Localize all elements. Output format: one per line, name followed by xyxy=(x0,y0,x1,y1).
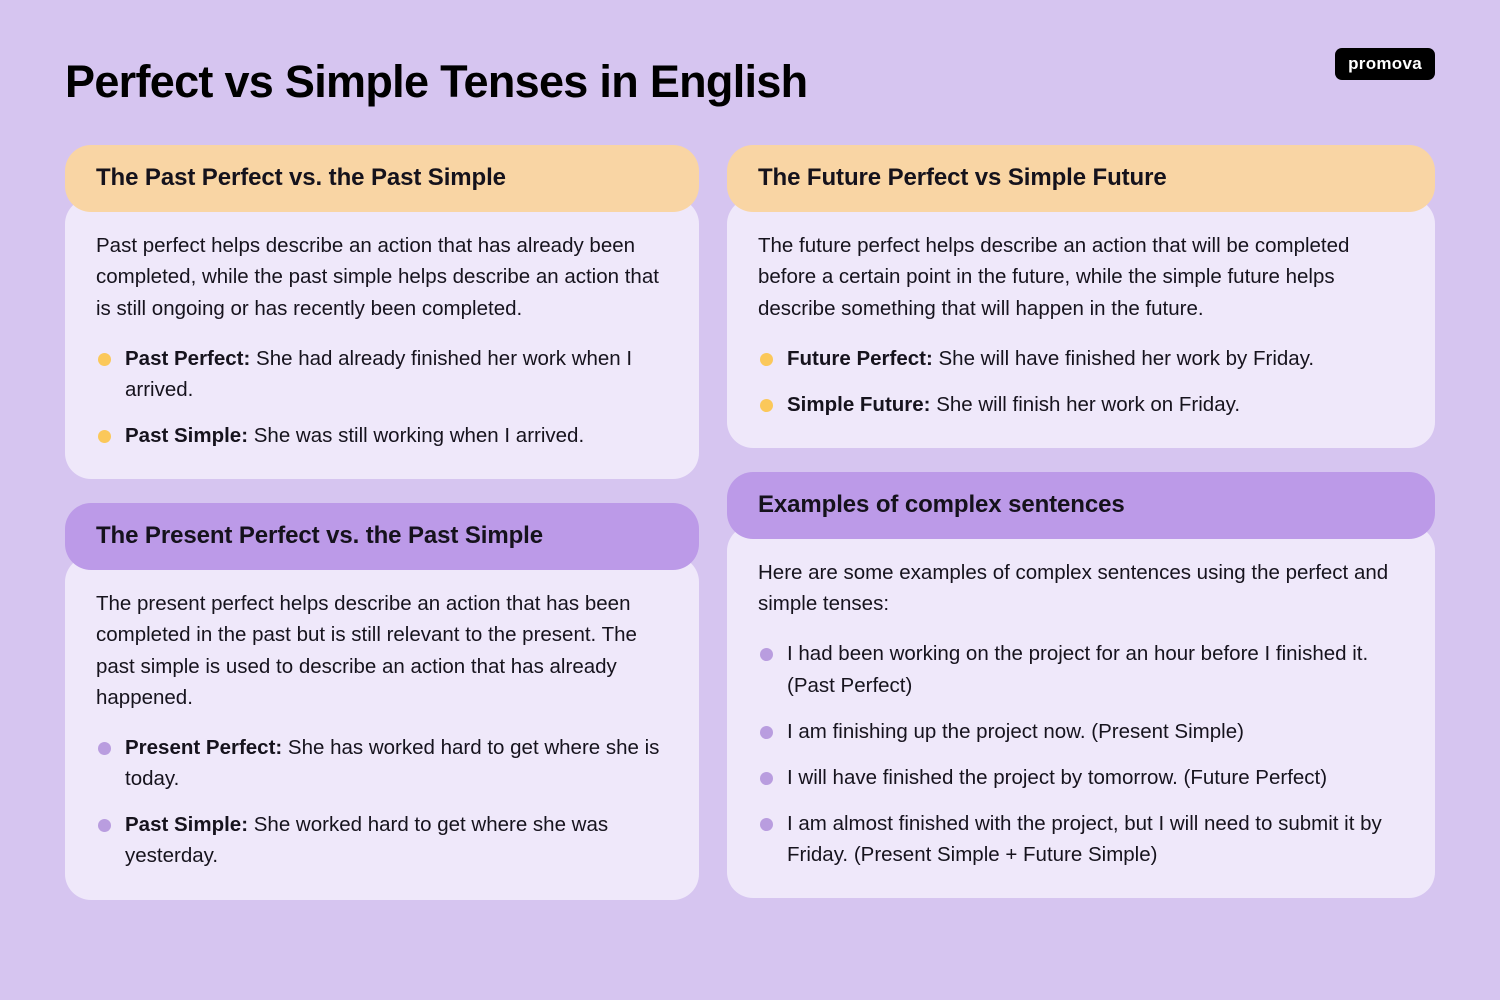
card-header: The Past Perfect vs. the Past Simple xyxy=(65,145,699,212)
card-intro-text: The future perfect helps describe an act… xyxy=(758,230,1404,323)
bullet-dot-icon xyxy=(98,430,111,443)
left-column: The Past Perfect vs. the Past SimplePast… xyxy=(65,145,699,900)
bullet-dot-icon xyxy=(760,818,773,831)
list-item-label: Simple Future: xyxy=(787,393,931,416)
promova-logo: promova xyxy=(1335,48,1435,80)
list-item-text: I will have finished the project by tomo… xyxy=(787,766,1327,789)
bullet-dot-icon xyxy=(98,819,111,832)
list-item: Present Perfect: She has worked hard to … xyxy=(96,732,668,794)
list-item-text: I am almost finished with the project, b… xyxy=(787,812,1382,866)
bullet-list: I had been working on the project for an… xyxy=(758,638,1404,870)
page-header: Perfect vs Simple Tenses in English prom… xyxy=(65,48,1435,126)
bullet-list: Past Perfect: She had already finished h… xyxy=(96,343,668,451)
card-header: The Future Perfect vs Simple Future xyxy=(727,145,1435,212)
card-examples-of-complex-sentences: Examples of complex sentencesHere are so… xyxy=(727,472,1435,898)
bullet-list: Future Perfect: She will have finished h… xyxy=(758,343,1404,420)
card-intro-text: The present perfect helps describe an ac… xyxy=(96,588,668,713)
bullet-list: Present Perfect: She has worked hard to … xyxy=(96,732,668,872)
list-item: I am finishing up the project now. (Pres… xyxy=(758,716,1404,747)
bullet-dot-icon xyxy=(760,726,773,739)
list-item: Past Simple: She was still working when … xyxy=(96,420,668,451)
list-item-text: I am finishing up the project now. (Pres… xyxy=(787,720,1244,743)
list-item: Past Simple: She worked hard to get wher… xyxy=(96,809,668,871)
list-item-text: She will finish her work on Friday. xyxy=(931,393,1241,416)
list-item: Simple Future: She will finish her work … xyxy=(758,389,1404,420)
bullet-dot-icon xyxy=(760,772,773,785)
card-body: Past perfect helps describe an action th… xyxy=(65,198,699,479)
card-the-past-perfect-vs-the-past-simple: The Past Perfect vs. the Past SimplePast… xyxy=(65,145,699,479)
list-item: Past Perfect: She had already finished h… xyxy=(96,343,668,405)
list-item: I am almost finished with the project, b… xyxy=(758,808,1404,870)
list-item-label: Present Perfect: xyxy=(125,736,282,759)
card-body: Here are some examples of complex senten… xyxy=(727,525,1435,898)
card-body: The present perfect helps describe an ac… xyxy=(65,556,699,899)
list-item: I had been working on the project for an… xyxy=(758,638,1404,700)
card-the-present-perfect-vs-the-past-simple: The Present Perfect vs. the Past SimpleT… xyxy=(65,503,699,899)
list-item-text: I had been working on the project for an… xyxy=(787,642,1368,696)
bullet-dot-icon xyxy=(98,353,111,366)
card-header: Examples of complex sentences xyxy=(727,472,1435,539)
card-body: The future perfect helps describe an act… xyxy=(727,198,1435,448)
bullet-dot-icon xyxy=(760,353,773,366)
bullet-dot-icon xyxy=(760,399,773,412)
bullet-dot-icon xyxy=(760,648,773,661)
card-intro-text: Past perfect helps describe an action th… xyxy=(96,230,668,323)
content-columns: The Past Perfect vs. the Past SimplePast… xyxy=(65,145,1435,900)
page-title: Perfect vs Simple Tenses in English xyxy=(65,48,1435,105)
card-header: The Present Perfect vs. the Past Simple xyxy=(65,503,699,570)
bullet-dot-icon xyxy=(98,742,111,755)
card-the-future-perfect-vs-simple-future: The Future Perfect vs Simple FutureThe f… xyxy=(727,145,1435,448)
list-item: Future Perfect: She will have finished h… xyxy=(758,343,1404,374)
right-column: The Future Perfect vs Simple FutureThe f… xyxy=(727,145,1435,898)
list-item: I will have finished the project by tomo… xyxy=(758,762,1404,793)
list-item-label: Past Simple: xyxy=(125,424,248,447)
list-item-text: She will have finished her work by Frida… xyxy=(933,347,1314,370)
card-intro-text: Here are some examples of complex senten… xyxy=(758,557,1404,619)
list-item-label: Past Perfect: xyxy=(125,347,250,370)
list-item-label: Past Simple: xyxy=(125,813,248,836)
infographic-page: Perfect vs Simple Tenses in English prom… xyxy=(0,0,1500,1000)
list-item-text: She was still working when I arrived. xyxy=(248,424,584,447)
list-item-label: Future Perfect: xyxy=(787,347,933,370)
